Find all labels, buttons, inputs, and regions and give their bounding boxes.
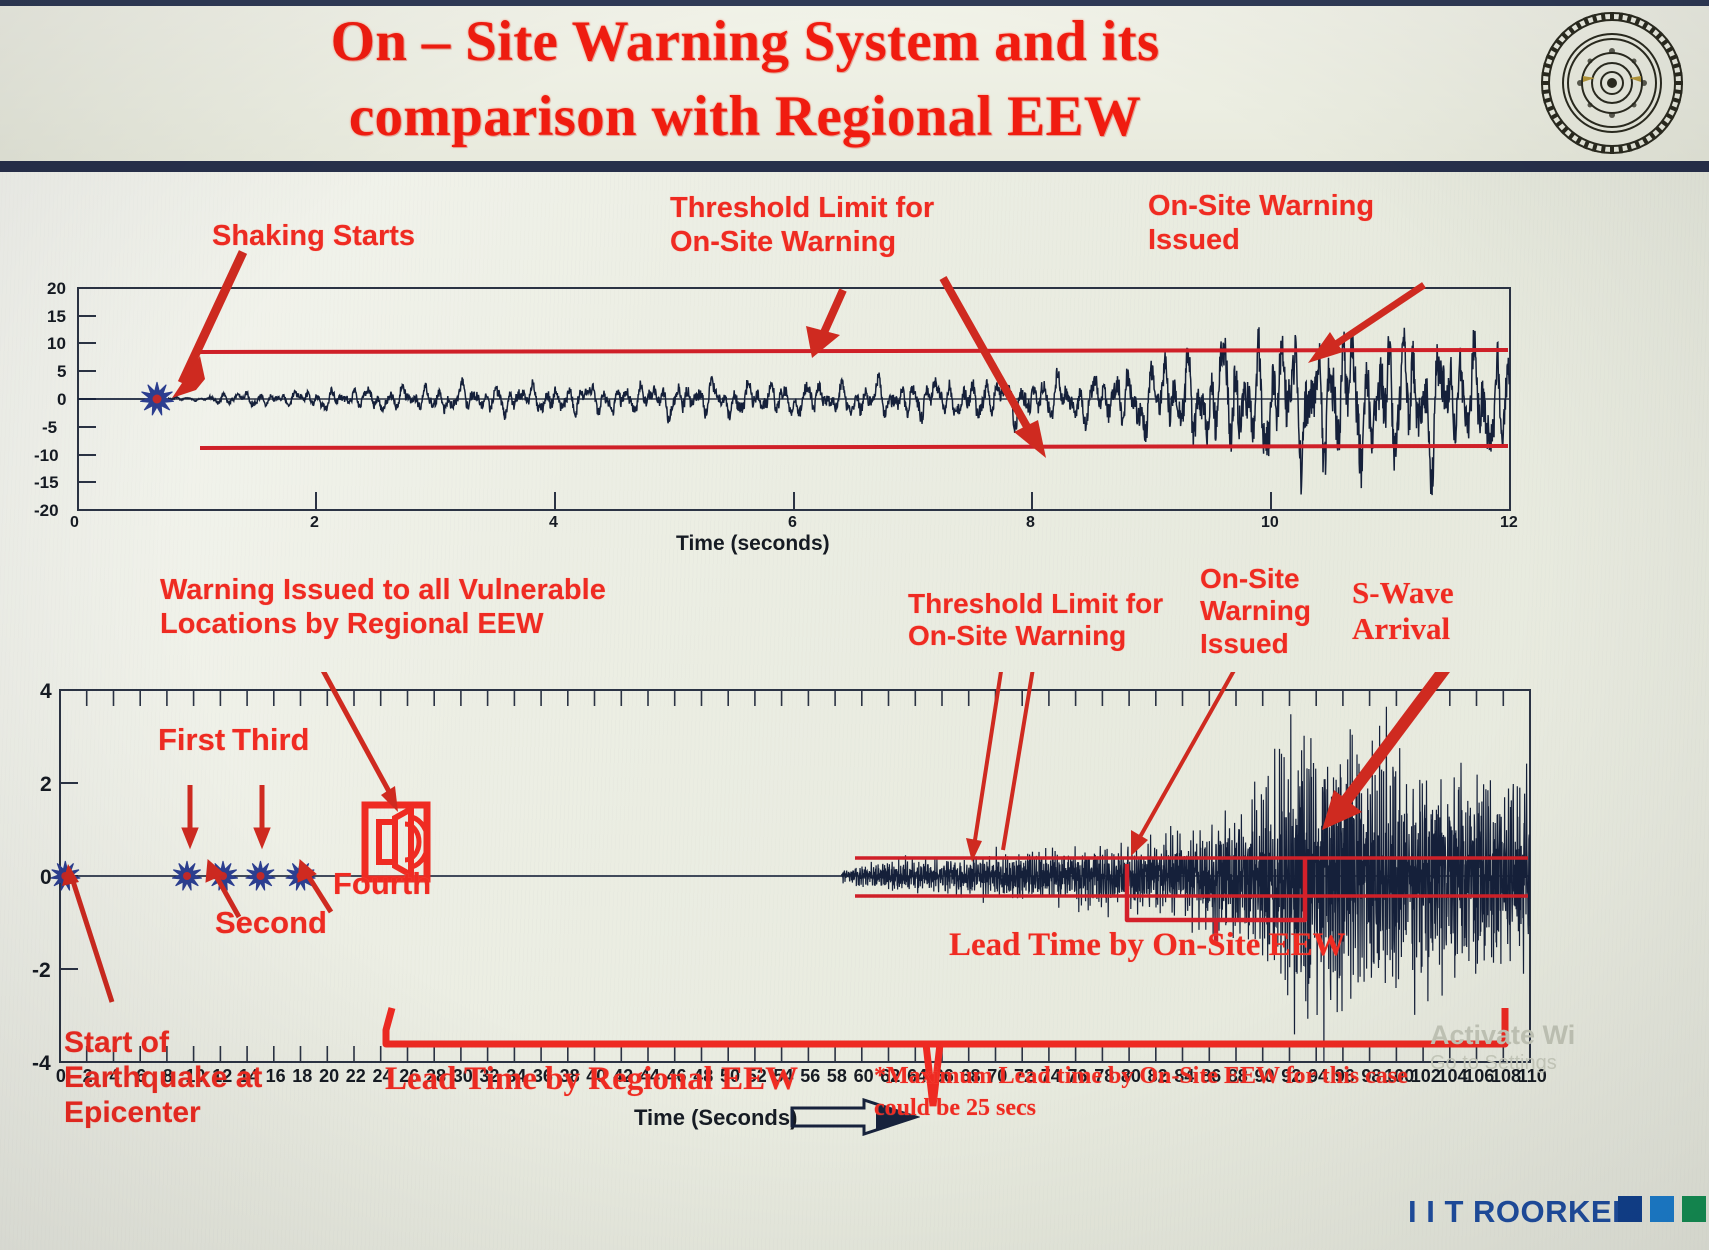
top-x-tick-12: 12	[1500, 514, 1518, 532]
shaking-starts-label: Shaking Starts	[212, 220, 415, 254]
first-label: First	[158, 722, 225, 758]
on-site-warning-issued-top-l2: Issued	[1148, 224, 1374, 258]
top-x-tick-2: 2	[310, 514, 319, 532]
on-site-warning-issued-label-bottom: On-Site Warning Issued	[1200, 563, 1311, 660]
fourth-label: Fourth	[333, 866, 431, 902]
threshold-limit-label-bottom-l1: Threshold Limit for	[908, 588, 1163, 620]
on-site-warning-issued-label-top: On-Site Warning Issued	[1148, 190, 1374, 257]
windows-activate-watermark-line2: Go to Settings	[1430, 1052, 1557, 1075]
threshold-limit-label-bottom-l2: On-Site Warning	[908, 620, 1163, 652]
bottom-y-tick-m2: -2	[32, 959, 51, 983]
iit-roorkee-emblem-icon	[1537, 8, 1687, 158]
epicenter-arrow-stem	[72, 878, 112, 1002]
brand-square-3	[1682, 1196, 1706, 1222]
regional-warning-issued-l1: Warning Issued to all Vulnerable	[160, 574, 606, 608]
brand-square-2	[1650, 1196, 1674, 1222]
max-lead-time-note-l2: could be 25 secs	[874, 1092, 1408, 1124]
top-y-tick-5: 5	[57, 362, 66, 382]
regional-warning-issued-l2: Locations by Regional EEW	[160, 608, 606, 642]
top-chart-x-ticks	[78, 492, 1510, 510]
threshold-limit-label-top: Threshold Limit for On-Site Warning	[670, 192, 934, 259]
top-y-tick-15: 15	[47, 307, 66, 327]
lead-time-regional-bracket	[386, 1008, 1505, 1044]
second-label: Second	[215, 905, 327, 941]
brand-square-1	[1618, 1196, 1642, 1222]
threshold-arrow2-stem	[943, 278, 1030, 432]
page-title-line2: comparison with Regional EEW	[150, 79, 1340, 154]
top-y-tick-m20: -20	[34, 501, 59, 521]
top-y-tick-20: 20	[47, 279, 66, 299]
on-site-warning-issued-bottom-l3: Issued	[1200, 628, 1311, 660]
top-y-tick-m10: -10	[34, 446, 59, 466]
bottom-threshold-arrow-stem	[975, 672, 1008, 840]
slide-header: On – Site Warning System and its compari…	[0, 0, 1709, 172]
on-site-warning-issued-bottom-l1: On-Site	[1200, 563, 1311, 595]
top-chart-x-axis-label: Time (seconds)	[676, 532, 830, 556]
station-marker-third-core	[257, 872, 265, 880]
page-title: On – Site Warning System and its compari…	[150, 4, 1340, 154]
max-lead-time-note-l1: *Maximum Lead time by On-Site EEW for th…	[874, 1060, 1408, 1092]
threshold-limit-label-top-l1: Threshold Limit for	[670, 192, 934, 226]
station-marker-first-core	[183, 872, 191, 880]
on-site-warning-arrow-stem	[1330, 285, 1424, 348]
max-lead-time-note: *Maximum Lead time by On-Site EEW for th…	[874, 1060, 1408, 1125]
top-x-tick-10: 10	[1261, 514, 1279, 532]
slide-root: On – Site Warning System and its compari…	[0, 0, 1709, 1250]
threshold-arrow2-head	[1014, 420, 1046, 458]
threshold-limit-label-bottom: Threshold Limit for On-Site Warning	[908, 588, 1163, 653]
top-x-tick-0: 0	[70, 514, 79, 532]
lead-time-regional-label: Lead Time by Regional EEW	[385, 1060, 798, 1098]
on-site-warning-issued-top-l1: On-Site Warning	[1148, 190, 1374, 224]
top-x-tick-8: 8	[1026, 514, 1035, 532]
top-y-tick-0: 0	[57, 390, 66, 410]
third-label: Third	[232, 722, 310, 758]
page-title-line1: On – Site Warning System and its	[150, 4, 1340, 79]
threshold-arrow-stem	[822, 290, 843, 337]
s-wave-arrival-l2: Arrival	[1352, 611, 1454, 647]
bottom-chart-marker-arrows	[182, 785, 331, 917]
top-y-tick-10: 10	[47, 334, 66, 354]
top-chart-upper-threshold	[200, 350, 1508, 352]
bottom-y-tick-0: 0	[40, 866, 52, 890]
windows-activate-watermark-line1: Activate Wi	[1430, 1020, 1575, 1051]
top-chart-lower-threshold	[200, 446, 1508, 448]
top-y-tick-m15: -15	[34, 473, 59, 493]
on-site-warning-issued-bottom-l2: Warning	[1200, 595, 1311, 627]
shaking-starts-arrow	[182, 252, 243, 383]
s-wave-arrival-l1: S-Wave	[1352, 575, 1454, 611]
bottom-y-tick-2: 2	[40, 773, 52, 797]
s-wave-arrival-label: S-Wave Arrival	[1352, 575, 1454, 647]
bottom-y-tick-4: 4	[40, 680, 52, 704]
header-bottom-rule	[0, 161, 1709, 172]
on-site-warning-arrowhead	[1308, 332, 1343, 363]
threshold-limit-label-top-l2: On-Site Warning	[670, 226, 934, 260]
top-x-tick-4: 4	[549, 514, 558, 532]
lead-time-onsite-label: Lead Time by On-Site EEW	[949, 926, 1346, 964]
top-y-tick-m5: -5	[42, 418, 57, 438]
footer-brand-text: I I T ROORKEE	[1408, 1194, 1633, 1230]
regional-warning-issued-label: Warning Issued to all Vulnerable Locatio…	[160, 574, 606, 641]
threshold-arrowhead	[806, 326, 840, 358]
top-x-tick-6: 6	[788, 514, 797, 532]
on-site-issued-bottom-arrow-stem	[1140, 672, 1258, 837]
